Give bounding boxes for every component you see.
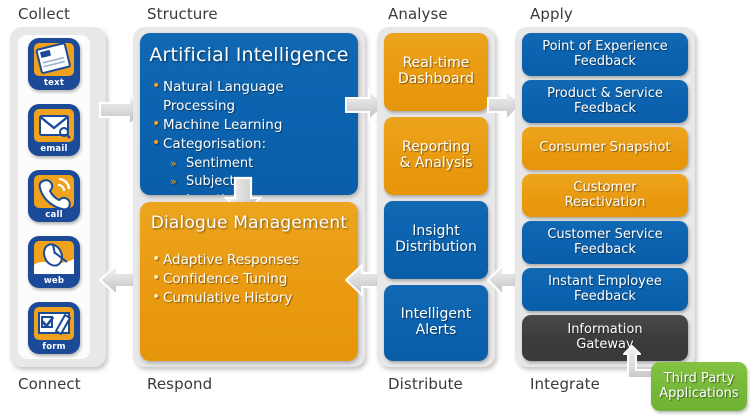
channel-caption: web	[28, 276, 80, 286]
ai-box-title: Artificial Intelligence	[140, 33, 358, 66]
analyse-card-insight-distribution[interactable]: InsightDistribution	[384, 201, 488, 279]
apply-card-customer-reactivation[interactable]: CustomerReactivation	[522, 174, 688, 217]
ai-sub-bullet-list: Sentiment Subject Location	[170, 155, 358, 195]
channel-caption: email	[28, 144, 80, 154]
card-label: Point of ExperienceFeedback	[538, 40, 672, 69]
column-label-structure: Structure	[147, 5, 218, 23]
column-label-apply: Apply	[530, 5, 573, 23]
channel-tile-email[interactable]: email	[28, 104, 80, 156]
column-label-analyse: Analyse	[388, 5, 448, 23]
column-label-connect: Connect	[18, 375, 81, 393]
card-label: Real-timeDashboard	[394, 56, 478, 87]
ai-sub-bullet: Subject	[170, 173, 358, 192]
card-label: Product & ServiceFeedback	[543, 87, 667, 116]
card-label: Consumer Snapshot	[535, 141, 674, 156]
channel-tile-form[interactable]: form	[28, 302, 80, 354]
channel-caption: call	[28, 210, 80, 220]
apply-card-product-service-feedback[interactable]: Product & ServiceFeedback	[522, 80, 688, 123]
column-label-distribute: Distribute	[388, 375, 463, 393]
apply-card-customer-service-feedback[interactable]: Customer ServiceFeedback	[522, 221, 688, 264]
channel-tile-text[interactable]: text	[28, 38, 80, 90]
card-label: Third PartyApplications	[655, 372, 742, 401]
ai-bullet-list: Natural Language Processing Machine Lear…	[152, 78, 358, 155]
dialogue-bullet: Cumulative History	[152, 289, 358, 308]
apply-card-instant-employee-feedback[interactable]: Instant EmployeeFeedback	[522, 268, 688, 311]
ai-bullet: Natural Language Processing	[152, 78, 358, 116]
card-label: Instant EmployeeFeedback	[544, 275, 666, 304]
dialogue-bullet: Adaptive Responses	[152, 251, 358, 270]
analyse-card-intelligent-alerts[interactable]: IntelligentAlerts	[384, 285, 488, 361]
dialogue-bullet-list: Adaptive Responses Confidence Tuning Cum…	[152, 251, 358, 308]
card-label: IntelligentAlerts	[397, 307, 476, 338]
card-label: Customer ServiceFeedback	[543, 228, 666, 257]
column-label-integrate: Integrate	[530, 375, 600, 393]
channel-tile-call[interactable]: call	[28, 170, 80, 222]
apply-card-consumer-snapshot[interactable]: Consumer Snapshot	[522, 127, 688, 170]
card-label: Reporting& Analysis	[395, 140, 476, 171]
dialogue-box-title: Dialogue Management	[140, 202, 358, 233]
analyse-card-reporting-analysis[interactable]: Reporting& Analysis	[384, 117, 488, 195]
ai-bullet: Categorisation:	[152, 135, 358, 154]
channel-caption: form	[28, 342, 80, 352]
dialogue-management-box: Dialogue Management Adaptive Responses C…	[140, 202, 358, 361]
ai-sub-bullet: Location	[170, 192, 358, 195]
channel-caption: text	[28, 78, 80, 88]
analyse-card-real-time-dashboard[interactable]: Real-timeDashboard	[384, 33, 488, 111]
apply-card-point-of-experience-feedback[interactable]: Point of ExperienceFeedback	[522, 33, 688, 76]
column-label-respond: Respond	[147, 375, 212, 393]
card-label: CustomerReactivation	[561, 181, 650, 210]
channel-tile-web[interactable]: web	[28, 236, 80, 288]
card-label: InsightDistribution	[391, 224, 481, 255]
artificial-intelligence-box: Artificial Intelligence Natural Language…	[140, 33, 358, 195]
ai-sub-bullet: Sentiment	[170, 155, 358, 174]
third-party-applications-card[interactable]: Third PartyApplications	[651, 362, 747, 411]
column-label-collect: Collect	[18, 5, 70, 23]
diagram-canvas: Collect Structure Analyse Apply Connect …	[0, 0, 750, 417]
dialogue-bullet: Confidence Tuning	[152, 270, 358, 289]
ai-bullet: Machine Learning	[152, 116, 358, 135]
